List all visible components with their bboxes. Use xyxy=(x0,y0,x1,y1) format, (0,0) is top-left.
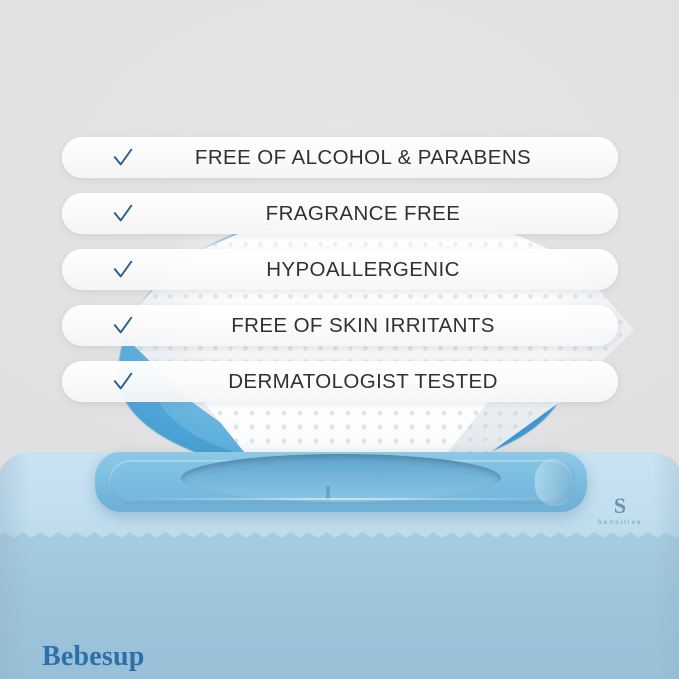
pack-edge-right xyxy=(653,452,679,679)
claim-pill: FREE OF SKIN IRRITANTS xyxy=(62,305,618,346)
claim-label: FREE OF SKIN IRRITANTS xyxy=(62,314,618,338)
check-icon xyxy=(112,147,134,169)
claim-pill: HYPOALLERGENIC xyxy=(62,249,618,290)
lid-dispense-opening xyxy=(181,454,501,502)
check-icon xyxy=(112,371,134,393)
check-icon xyxy=(112,315,134,337)
brand-wordmark: Bebesup xyxy=(42,641,145,673)
product-image: S Sensitive Bebesup FREE OF ALCOHOL & PA… xyxy=(0,0,679,679)
claim-label: DERMATOLOGIST TESTED xyxy=(62,370,618,394)
check-icon xyxy=(112,259,134,281)
claim-pill: DERMATOLOGIST TESTED xyxy=(62,361,618,402)
check-icon xyxy=(112,203,134,225)
claim-pill: FRAGRANCE FREE xyxy=(62,193,618,234)
claim-label: FRAGRANCE FREE xyxy=(62,202,618,226)
pack-edge-left xyxy=(0,452,30,679)
claims-list: FREE OF ALCOHOL & PARABENS FRAGRANCE FRE… xyxy=(62,137,618,417)
flip-lid xyxy=(95,452,587,512)
claim-label: FREE OF ALCOHOL & PARABENS xyxy=(62,146,618,170)
variant-label: Sensitive xyxy=(584,519,656,526)
sensitive-s-icon: S xyxy=(584,496,656,516)
claim-label: HYPOALLERGENIC xyxy=(62,258,618,282)
claim-pill: FREE OF ALCOHOL & PARABENS xyxy=(62,137,618,178)
lid-seam-highlight xyxy=(119,498,563,500)
variant-monogram: S Sensitive xyxy=(584,496,656,526)
